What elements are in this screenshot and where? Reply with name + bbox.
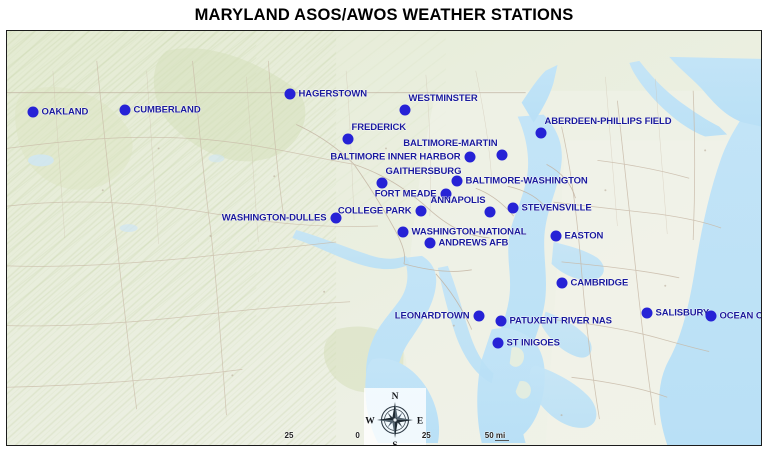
station-label: GAITHERSBURG bbox=[386, 166, 462, 177]
station-label: BALTIMORE-MARTIN bbox=[403, 138, 497, 149]
station-dot-icon[interactable] bbox=[464, 151, 475, 162]
svg-text:E: E bbox=[417, 417, 423, 427]
station-dot-icon[interactable] bbox=[424, 237, 435, 248]
scale-tick-label: 25 bbox=[422, 431, 431, 440]
station-label: LEONARDTOWN bbox=[395, 310, 470, 321]
station-label: FREDERICK bbox=[352, 122, 407, 133]
station-dot-icon[interactable] bbox=[705, 310, 716, 321]
station-dot-icon[interactable] bbox=[641, 307, 652, 318]
station-label: ABERDEEN-PHILLIPS FIELD bbox=[545, 116, 672, 127]
station-dot-icon[interactable] bbox=[496, 149, 507, 160]
station-label: CUMBERLAND bbox=[134, 104, 201, 115]
station-dot-icon[interactable] bbox=[399, 104, 410, 115]
scale-tick-label: 25 bbox=[285, 431, 294, 440]
scale-bar-tick-labels: 2502550 mi bbox=[283, 431, 501, 444]
station-label: BALTIMORE-WASHINGTON bbox=[466, 175, 588, 186]
station-label: FORT MEADE bbox=[375, 188, 437, 199]
station-label: PATUXENT RIVER NAS bbox=[510, 315, 612, 326]
station-dot-icon[interactable] bbox=[284, 88, 295, 99]
station-label: WESTMINSTER bbox=[409, 93, 478, 104]
station-dot-icon[interactable] bbox=[330, 212, 341, 223]
station-label: WASHINGTON-NATIONAL bbox=[412, 226, 527, 237]
station-label: BALTIMORE INNER HARBOR bbox=[330, 151, 460, 162]
page-title: MARYLAND ASOS/AWOS WEATHER STATIONS bbox=[0, 6, 768, 25]
station-label: ST INIGOES bbox=[507, 337, 560, 348]
station-dot-icon[interactable] bbox=[556, 277, 567, 288]
station-label: ANNAPOLIS bbox=[430, 195, 485, 206]
map-page: MARYLAND ASOS/AWOS WEATHER STATIONS bbox=[0, 0, 768, 452]
station-dot-icon[interactable] bbox=[507, 202, 518, 213]
scale-tick-label: 0 bbox=[355, 431, 359, 440]
station-dot-icon[interactable] bbox=[492, 337, 503, 348]
station-label: STEVENSVILLE bbox=[522, 202, 592, 213]
station-dot-icon[interactable] bbox=[342, 133, 353, 144]
scale-tick-label: 50 mi bbox=[485, 431, 505, 440]
station-dot-icon[interactable] bbox=[376, 177, 387, 188]
station-dot-icon[interactable] bbox=[397, 226, 408, 237]
svg-text:W: W bbox=[365, 417, 375, 427]
station-label: EASTON bbox=[565, 230, 604, 241]
station-dot-icon[interactable] bbox=[473, 310, 484, 321]
station-dot-icon[interactable] bbox=[495, 315, 506, 326]
map-frame[interactable]: OAKLANDCUMBERLANDHAGERSTOWNWESTMINSTERFR… bbox=[6, 30, 762, 446]
scale-bar: 2502550 mi bbox=[283, 431, 501, 446]
station-dot-icon[interactable] bbox=[415, 205, 426, 216]
basemap-svg bbox=[7, 31, 761, 445]
svg-text:N: N bbox=[392, 392, 399, 402]
station-label: OCEAN CITY bbox=[720, 310, 763, 321]
station-dot-icon[interactable] bbox=[484, 206, 495, 217]
station-dot-icon[interactable] bbox=[27, 106, 38, 117]
station-label: COLLEGE PARK bbox=[338, 205, 412, 216]
scale-bar-tail bbox=[495, 440, 509, 441]
station-label: ANDREWS AFB bbox=[439, 237, 509, 248]
station-label: OAKLAND bbox=[42, 106, 89, 117]
station-label: SALISBURY bbox=[656, 307, 710, 318]
station-label: CAMBRIDGE bbox=[571, 277, 629, 288]
station-dot-icon[interactable] bbox=[550, 230, 561, 241]
station-dot-icon[interactable] bbox=[535, 127, 546, 138]
station-label: WASHINGTON-DULLES bbox=[222, 212, 327, 223]
station-label: HAGERSTOWN bbox=[299, 88, 368, 99]
station-dot-icon[interactable] bbox=[451, 175, 462, 186]
station-dot-icon[interactable] bbox=[119, 104, 130, 115]
